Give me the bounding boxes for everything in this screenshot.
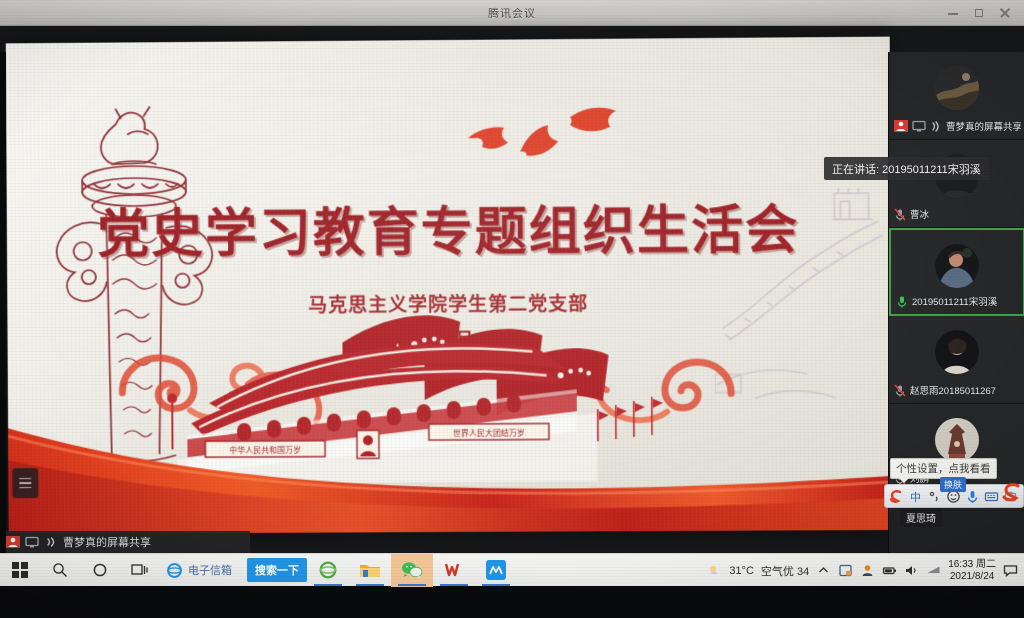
sound-wave-icon xyxy=(44,536,58,548)
mic-muted-icon xyxy=(894,384,906,397)
internet-explorer-icon xyxy=(318,560,338,580)
task-view-icon xyxy=(131,562,149,578)
search-button[interactable] xyxy=(40,554,80,587)
participant-tile-active-speaker[interactable]: 20195011211宋羽溪 xyxy=(889,228,1024,316)
participant-name: 赵思雨20185011267 xyxy=(910,383,996,397)
sogou-tray-logo-icon[interactable] xyxy=(1000,482,1024,504)
internet-explorer-icon xyxy=(166,562,183,579)
avatar xyxy=(935,418,979,462)
person-share-icon xyxy=(894,120,908,132)
participant-name-row: 20195011211宋羽溪 xyxy=(896,294,1019,308)
network-icon[interactable] xyxy=(926,563,941,578)
window-controls xyxy=(946,0,1020,26)
participant-name-row: 曹冰 xyxy=(894,207,1021,221)
red-silk-ribbon xyxy=(8,380,893,534)
window-titlebar[interactable]: 腾讯会议 xyxy=(0,0,1024,26)
battery-icon[interactable] xyxy=(882,563,897,578)
monitor-icon xyxy=(25,536,39,548)
rail-bottom-participant-name: 夏思琦 xyxy=(900,508,942,527)
avatar xyxy=(935,244,979,288)
minimize-button[interactable] xyxy=(946,6,960,20)
participant-tile-3[interactable]: 赵思雨20185011267 xyxy=(889,316,1024,404)
mic-on-icon xyxy=(896,295,908,308)
participant-tile-1[interactable]: 曹冰 xyxy=(889,140,1024,228)
wps-office-icon xyxy=(444,561,464,579)
screen-photo: 腾讯会议 xyxy=(0,0,1024,618)
taskbar-app-wps-office[interactable] xyxy=(433,554,475,587)
share-banner-label: 曹梦真的屏幕共享 xyxy=(63,534,151,550)
ime-skin-tooltip: 换肤 xyxy=(940,477,966,492)
screen-share-stage[interactable]: 党史学习教育专题组织生活会 马克思主义学院学生第二党支部 2021年8月24日 xyxy=(6,37,893,534)
avatar xyxy=(935,66,979,110)
active-speaker-text: 正在讲话: 20195011211宋羽溪 xyxy=(832,161,981,177)
ie-search-text[interactable]: 电子信箱 xyxy=(188,562,232,578)
mail-master-icon xyxy=(486,560,506,580)
ie-search-widget[interactable]: 电子信箱 搜索一下 xyxy=(166,554,307,587)
participant-tile-screenshare[interactable]: 曹梦真的屏幕共享 xyxy=(889,52,1024,140)
person-share-icon xyxy=(6,536,20,548)
participant-name: 20195011211宋羽溪 xyxy=(912,294,997,308)
clock-date: 2021/8/24 xyxy=(948,571,996,583)
screenshot-icon[interactable] xyxy=(838,563,853,578)
weather-icon xyxy=(707,563,722,578)
windows-taskbar[interactable]: 电子信箱 搜索一下 xyxy=(0,553,1024,586)
notification-icon[interactable] xyxy=(1003,563,1018,578)
ime-skin-text: 换肤 xyxy=(944,480,962,490)
photo-bottom-edge xyxy=(0,586,1024,618)
maximize-button[interactable] xyxy=(972,6,986,20)
presentation-slide: 党史学习教育专题组织生活会 马克思主义学院学生第二党支部 2021年8月24日 xyxy=(6,37,893,534)
participant-name-row: 赵思雨20185011267 xyxy=(894,383,1021,397)
ie-search-button[interactable]: 搜索一下 xyxy=(247,558,307,582)
taskbar-app-internet-explorer[interactable] xyxy=(307,554,349,587)
participant-name: 曹冰 xyxy=(910,207,929,221)
ime-tooltip-text: 个性设置，点我看看 xyxy=(896,463,991,475)
taskbar-app-mail-master[interactable] xyxy=(475,554,517,587)
tencent-meeting-window: 腾讯会议 xyxy=(0,0,1024,553)
screen-share-banner[interactable]: 曹梦真的屏幕共享 xyxy=(0,531,250,553)
monitor-icon xyxy=(912,120,926,132)
search-icon xyxy=(52,562,68,578)
user-icon[interactable] xyxy=(860,563,875,578)
active-speaker-toast: 正在讲话: 20195011211宋羽溪 xyxy=(824,157,989,180)
peace-doves-illustration xyxy=(460,89,631,170)
close-button[interactable] xyxy=(998,6,1012,20)
photo-left-edge xyxy=(0,52,6,579)
taskbar-clock[interactable]: 16:33 周二 2021/8/24 xyxy=(948,559,996,582)
taskbar-app-file-explorer[interactable] xyxy=(349,554,391,587)
sogou-logo-icon[interactable] xyxy=(889,489,904,504)
window-title: 腾讯会议 xyxy=(488,5,536,21)
weather-temperature[interactable]: 31°C xyxy=(729,565,754,577)
chevron-up-icon[interactable] xyxy=(816,563,831,578)
share-toolbar-handle[interactable] xyxy=(12,468,38,498)
slide-title: 党史学习教育专题组织生活会 xyxy=(7,187,891,268)
system-tray[interactable]: 31°C 空气优 34 xyxy=(707,554,1024,587)
soft-keyboard-icon[interactable] xyxy=(984,489,999,504)
chinese-mode-icon[interactable]: 中 xyxy=(908,489,923,504)
taskbar-app-wechat[interactable] xyxy=(391,554,433,587)
cortana-button[interactable] xyxy=(80,554,120,587)
clock-time: 16:33 周二 xyxy=(948,559,996,571)
cortana-icon xyxy=(92,562,108,578)
sound-wave-icon xyxy=(930,120,942,133)
volume-icon[interactable] xyxy=(904,563,919,578)
start-icon xyxy=(12,562,28,578)
participant-name: 曹梦真的屏幕共享 xyxy=(946,119,1021,133)
file-explorer-icon xyxy=(359,561,381,579)
voice-input-icon[interactable] xyxy=(965,489,980,504)
start-button[interactable] xyxy=(0,554,40,587)
svg-text:中: 中 xyxy=(910,491,921,504)
avatar xyxy=(935,330,979,374)
air-quality[interactable]: 空气优 34 xyxy=(761,563,809,579)
mic-muted-icon xyxy=(894,208,906,221)
task-view-button[interactable] xyxy=(120,554,160,587)
meeting-body: 党史学习教育专题组织生活会 马克思主义学院学生第二党支部 2021年8月24日 xyxy=(0,26,1024,553)
wechat-icon xyxy=(401,561,423,579)
ime-personalize-tooltip[interactable]: 个性设置，点我看看 xyxy=(890,458,997,479)
participant-name-row: 曹梦真的屏幕共享 xyxy=(894,119,1021,133)
